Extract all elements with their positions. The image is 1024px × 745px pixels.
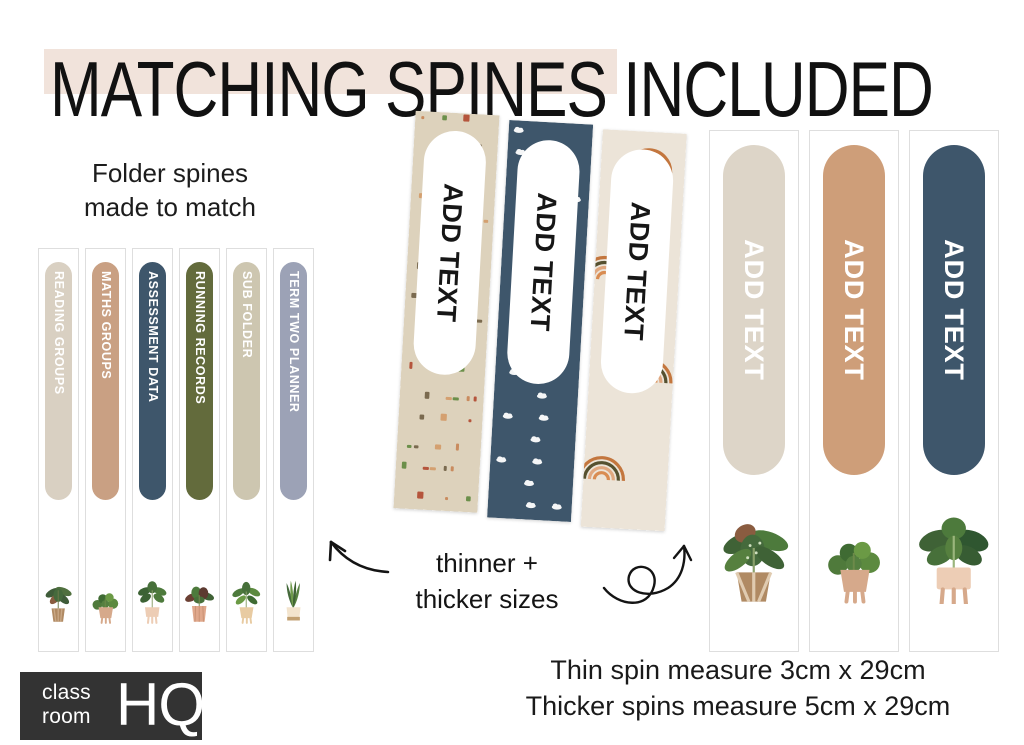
thin-spine-pill: MATHS GROUPS <box>92 262 119 500</box>
page-title-band: MATCHING SPINES INCLUDED <box>0 22 1024 98</box>
looped-arrow-right-icon <box>596 540 706 610</box>
thin-spine-card[interactable]: READING GROUPS <box>38 248 79 652</box>
thick-spine-label: ADD TEXT <box>823 145 885 475</box>
annotation-line1: thinner + <box>382 545 592 581</box>
thin-spine-pill: READING GROUPS <box>45 262 72 500</box>
thin-spines-group: READING GROUPS MATHS GROUPS ASSESSMENT D… <box>38 248 328 652</box>
plant-money-tree-in-legged-pot-icon <box>133 577 172 647</box>
thin-spine-pill: TERM TWO PLANNER <box>280 262 307 500</box>
thick-spine-label: ADD TEXT <box>923 145 985 475</box>
thick-spine-card[interactable]: ADD TEXT <box>709 130 799 652</box>
tilted-spine-card[interactable]: ADD TEXT <box>487 120 593 522</box>
thin-spine-card[interactable]: RUNNING RECORDS <box>179 248 220 652</box>
thin-spine-label: TERM TWO PLANNER <box>280 262 307 500</box>
left-caption-line2: made to match <box>20 190 320 224</box>
tilted-spine-card[interactable]: ADD TEXT <box>393 111 499 513</box>
thin-spine-label: READING GROUPS <box>45 262 72 500</box>
plant-begonia-in-geometric-pot-icon <box>710 509 798 639</box>
measure-thick: Thicker spins measure 5cm x 29cm <box>460 688 1016 724</box>
thin-spine-card[interactable]: SUB FOLDER <box>226 248 267 652</box>
thick-spine-card[interactable]: ADD TEXT <box>909 130 999 652</box>
thin-spine-label: ASSESSMENT DATA <box>139 262 166 500</box>
plant-pilea-in-legged-pot-icon <box>86 577 125 647</box>
thin-spine-pill: RUNNING RECORDS <box>186 262 213 500</box>
logo: class room HQ <box>20 672 202 740</box>
logo-line2: room <box>42 705 120 729</box>
plant-monstera-in-legged-pot-icon <box>227 577 266 647</box>
left-caption: Folder spines made to match <box>20 156 320 224</box>
plant-begonia-in-wood-pot-icon <box>39 577 78 647</box>
tilted-spine-card[interactable]: ADD TEXT <box>581 129 687 531</box>
thick-spine-card[interactable]: ADD TEXT <box>809 130 899 652</box>
annotation-text: thinner + thicker sizes <box>382 545 592 617</box>
plant-fiddle-leaf-in-stand-icon <box>910 509 998 639</box>
plant-calathea-in-ribbed-pot-icon <box>180 577 219 647</box>
thin-spine-card[interactable]: ASSESSMENT DATA <box>132 248 173 652</box>
tilted-spines-group: ADD TEXTADD TEXTADD TEXT <box>393 111 687 536</box>
thick-spine-pill: ADD TEXT <box>923 145 985 475</box>
measure-thin: Thin spin measure 3cm x 29cm <box>460 652 1016 688</box>
thin-spine-card[interactable]: MATHS GROUPS <box>85 248 126 652</box>
logo-wordmark: class room <box>42 681 120 729</box>
logo-mark: HQ <box>116 671 204 739</box>
thin-spine-pill: ASSESSMENT DATA <box>139 262 166 500</box>
thin-spine-label: SUB FOLDER <box>233 262 260 500</box>
measurements-text: Thin spin measure 3cm x 29cm Thicker spi… <box>460 652 1016 724</box>
thin-spine-pill: SUB FOLDER <box>233 262 260 500</box>
thin-spine-card[interactable]: TERM TWO PLANNER <box>273 248 314 652</box>
plant-pilea-in-legged-pot-icon <box>810 509 898 639</box>
thick-spine-pill: ADD TEXT <box>823 145 885 475</box>
plant-snake-plant-in-pot-icon <box>274 577 313 647</box>
annotation-line2: thicker sizes <box>382 581 592 617</box>
curved-arrow-left-icon <box>318 524 390 576</box>
thick-spine-pill: ADD TEXT <box>723 145 785 475</box>
thick-spines-group: ADD TEXT ADD TEXT ADD TEXT <box>709 130 1009 652</box>
logo-line1: class <box>42 681 120 705</box>
thin-spine-label: MATHS GROUPS <box>92 262 119 500</box>
thick-spine-label: ADD TEXT <box>723 145 785 475</box>
thin-spine-label: RUNNING RECORDS <box>186 262 213 500</box>
left-caption-line1: Folder spines <box>20 156 320 190</box>
